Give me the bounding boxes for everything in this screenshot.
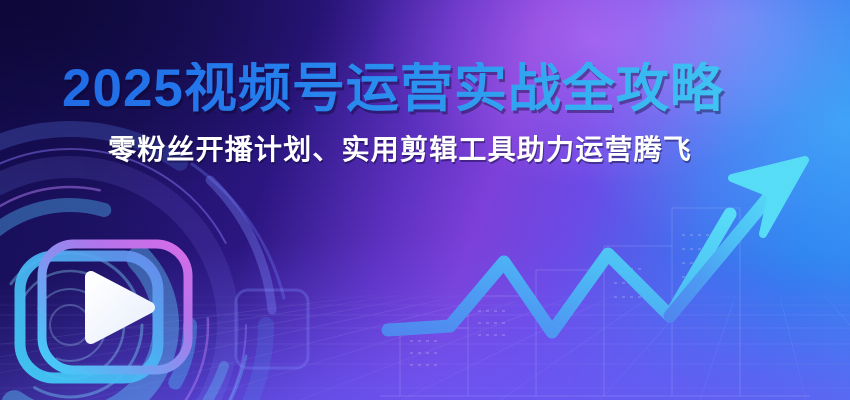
play-button[interactable] [16,238,202,388]
growth-chart [380,150,850,400]
chart-background-grid [380,208,810,396]
play-triangle-icon [91,277,149,338]
page-subtitle: 零粉丝开播计划、实用剪辑工具助力运营腾飞 [108,136,692,164]
chart-background-dots [410,234,709,366]
growth-arrow-shaft [670,186,778,316]
page-title: 2025视频号运营实战全攻略 [62,62,822,115]
banner-canvas: 2025视频号运营实战全攻略 零粉丝开播计划、实用剪辑工具助力运营腾飞 [0,0,850,400]
